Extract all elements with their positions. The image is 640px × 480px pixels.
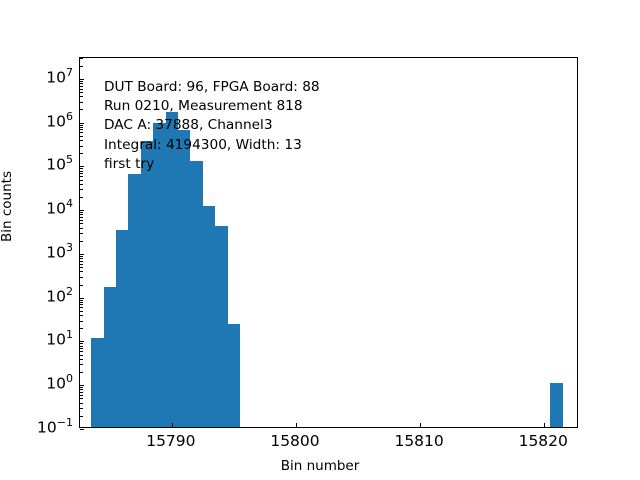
x-axis-label: Bin number: [0, 458, 640, 474]
annotation-line: DAC A: 37888, Channel3: [104, 116, 320, 135]
y-axis-tick-label: 100: [46, 376, 73, 392]
annotation-line: Integral: 4194300, Width: 13: [104, 136, 320, 155]
annotation-line: DUT Board: 96, FPGA Board: 88: [104, 78, 320, 97]
y-axis-tick-label: 101: [46, 333, 73, 349]
y-axis-tick-label: 107: [46, 70, 73, 86]
bar: [91, 338, 103, 427]
x-axis-tick-label: 15820: [519, 432, 568, 450]
plot-annotation-text: DUT Board: 96, FPGA Board: 88Run 0210, M…: [104, 78, 320, 174]
bar: [104, 287, 116, 427]
x-axis-tick-labels: 15790158001581015820: [79, 432, 578, 454]
y-axis-tick-labels: 10−1100101102103104105106107: [0, 57, 73, 428]
bar: [141, 141, 153, 427]
bar: [190, 161, 202, 427]
y-axis-tick-label: 104: [46, 201, 73, 217]
figure-canvas: 10−1100101102103104105106107 Bin counts …: [0, 0, 640, 480]
y-axis-tick-label: 10−1: [37, 420, 73, 436]
annotation-line: first try: [104, 155, 320, 174]
bar: [203, 206, 215, 427]
y-axis-tick-label: 105: [46, 158, 73, 174]
bar: [128, 174, 140, 428]
bar: [550, 383, 562, 427]
x-axis-tick-label: 15790: [146, 432, 195, 450]
x-axis-tick-label: 15810: [394, 432, 443, 450]
y-axis-tick-label: 103: [46, 245, 73, 261]
bar: [116, 230, 128, 427]
y-axis-tick-label: 106: [46, 114, 73, 130]
annotation-line: Run 0210, Measurement 818: [104, 97, 320, 116]
y-axis-tick-label: 102: [46, 289, 73, 305]
y-axis-tick-mark: [80, 429, 84, 430]
bar: [228, 324, 240, 427]
y-axis-label: Bin counts: [0, 171, 15, 242]
bar: [178, 130, 190, 427]
x-axis-tick-label: 15800: [270, 432, 319, 450]
bar: [215, 226, 227, 427]
